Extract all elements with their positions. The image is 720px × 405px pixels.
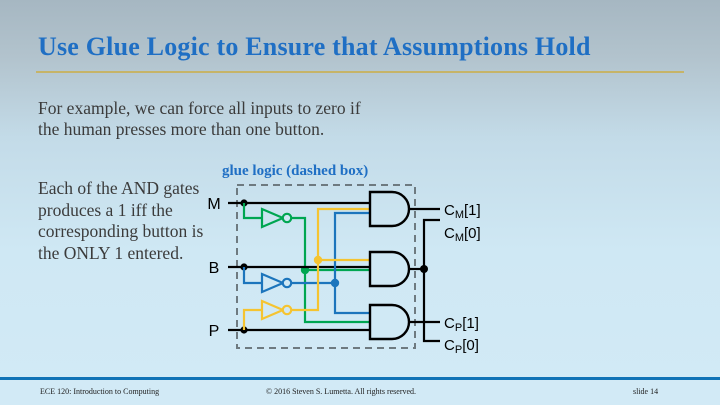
page-title: Use Glue Logic to Ensure that Assumption… bbox=[38, 32, 678, 62]
wire-out-bus bbox=[424, 220, 440, 269]
junction-p bbox=[240, 326, 247, 333]
wire-green-bus bbox=[291, 218, 370, 270]
junction-middle-out bbox=[420, 265, 428, 273]
inverter-yellow-bubble bbox=[283, 306, 291, 314]
wire-green-m-tap bbox=[244, 203, 262, 218]
output-label-cm1: CM[1] bbox=[444, 202, 481, 221]
inverter-blue-bubble bbox=[283, 279, 291, 287]
dashed-box bbox=[237, 185, 415, 348]
footer-course: ECE 120: Introduction to Computing bbox=[40, 387, 159, 396]
and-gate-bottom bbox=[370, 305, 409, 339]
output-label-cp0: CP[0] bbox=[444, 337, 479, 356]
footer-divider bbox=[0, 377, 720, 380]
junction-b bbox=[240, 263, 247, 270]
inverter-yellow bbox=[262, 301, 283, 319]
wire-out-bus-lower bbox=[424, 269, 440, 341]
wire-blue-bus-lower bbox=[335, 283, 370, 313]
left-paragraph: Each of the AND gates produces a 1 iff t… bbox=[38, 178, 223, 264]
title-divider bbox=[36, 71, 684, 73]
slide-root: Use Glue Logic to Ensure that Assumption… bbox=[0, 0, 720, 405]
output-label-cm0: CM[0] bbox=[444, 225, 481, 244]
and-gate-middle bbox=[370, 252, 409, 286]
inverter-green-bubble bbox=[283, 214, 291, 222]
wire-green-bus-lower bbox=[305, 270, 370, 322]
junction-green bbox=[301, 266, 309, 274]
diagram-caption: glue logic (dashed box) bbox=[222, 163, 368, 180]
footer-copyright: © 2016 Steven S. Lumetta. All rights res… bbox=[266, 387, 416, 396]
wire-blue-bus bbox=[291, 213, 370, 283]
inverter-green bbox=[262, 209, 283, 227]
footer-slide-number: slide 14 bbox=[633, 387, 658, 396]
inverter-blue bbox=[262, 274, 283, 292]
wire-yellow-bus bbox=[291, 209, 370, 310]
and-gate-top bbox=[370, 192, 409, 226]
input-label-p: P bbox=[209, 323, 220, 340]
output-label-cp1: CP[1] bbox=[444, 315, 479, 334]
junction-blue bbox=[331, 279, 339, 287]
junction-m bbox=[240, 199, 247, 206]
junction-yellow bbox=[314, 256, 322, 264]
wire-yellow-p-tap bbox=[244, 310, 262, 330]
wire-blue-b-tap bbox=[244, 267, 262, 283]
intro-paragraph: For example, we can force all inputs to … bbox=[38, 98, 368, 140]
